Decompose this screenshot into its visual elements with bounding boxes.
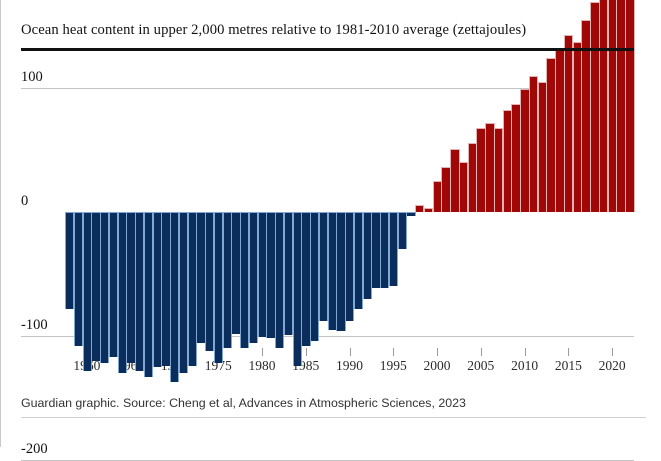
x-axis-tick-2000 bbox=[437, 348, 438, 356]
x-axis-label-2000: 2000 bbox=[424, 358, 451, 374]
x-axis-label-2005: 2005 bbox=[467, 358, 494, 374]
x-axis-tick-1985 bbox=[306, 348, 307, 356]
x-axis-label-2010: 2010 bbox=[511, 358, 538, 374]
x-axis-tick-2020 bbox=[612, 348, 613, 356]
footer-caption: Guardian graphic. Source: Cheng et al, A… bbox=[21, 396, 466, 410]
x-axis-label-2015: 2015 bbox=[555, 358, 582, 374]
bar-2022 bbox=[625, 0, 634, 212]
x-axis-tick-1995 bbox=[393, 348, 394, 356]
x-axis-tick-1980 bbox=[262, 348, 263, 356]
chart-title: Ocean heat content in upper 2,000 metres… bbox=[21, 22, 526, 39]
x-axis-label-1980: 1980 bbox=[248, 358, 275, 374]
zero-baseline bbox=[21, 48, 634, 51]
x-axis-label-2020: 2020 bbox=[599, 358, 626, 374]
chart-page: Ocean heat content in upper 2,000 metres… bbox=[0, 0, 661, 447]
x-axis-label-1995: 1995 bbox=[380, 358, 407, 374]
x-axis-tick-2005 bbox=[481, 348, 482, 356]
x-axis-tick-2010 bbox=[525, 348, 526, 356]
bar-1996 bbox=[398, 212, 407, 249]
x-axis-tick-2015 bbox=[568, 348, 569, 356]
y-axis-label--200: -200 bbox=[21, 441, 48, 458]
bars-group bbox=[1, 48, 661, 348]
plot-area: 2001000-100-200 bbox=[1, 48, 661, 348]
x-axis-label-1990: 1990 bbox=[336, 358, 363, 374]
bar-1997 bbox=[406, 212, 415, 216]
footer-divider bbox=[21, 417, 646, 418]
x-axis-tick-1990 bbox=[350, 348, 351, 356]
